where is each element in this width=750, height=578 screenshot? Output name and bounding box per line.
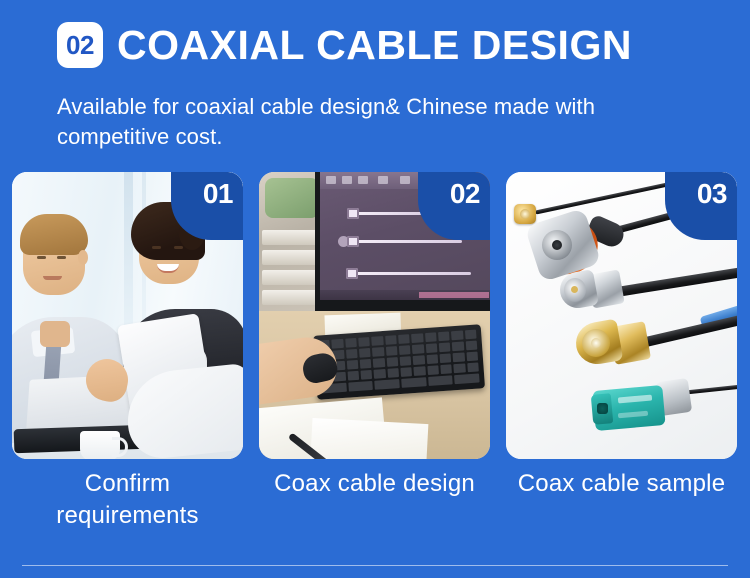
man-hair: [20, 214, 88, 255]
man-eye: [37, 256, 46, 259]
sma-contact-gold: [582, 329, 610, 357]
coax-cable: [682, 381, 737, 395]
man-ear: [78, 250, 88, 265]
woman-eye: [152, 246, 161, 249]
woman-eye: [174, 246, 183, 249]
man-neck: [40, 321, 70, 347]
paper-sheets: [310, 418, 429, 459]
card-coax-cable-sample[interactable]: 03: [506, 172, 737, 459]
paper-stack: [262, 230, 320, 245]
caption-card-1: Confirm requirements: [12, 468, 243, 532]
cad-tool-icon: [342, 176, 352, 184]
man-mouth: [43, 276, 62, 280]
title-row: 02 COAXIAL CABLE DESIGN: [57, 22, 632, 68]
caption-card-3: Coax cable sample: [506, 468, 737, 532]
window-blind: [124, 172, 133, 338]
coax-cable: [618, 265, 737, 296]
coffee-cup: [80, 431, 120, 459]
card-gallery: 01: [12, 172, 738, 459]
caption-row: Confirm requirements Coax cable design C…: [12, 468, 738, 532]
bottom-divider: [22, 565, 728, 566]
paper-stack: [262, 290, 320, 305]
cad-tool-icon: [358, 176, 368, 184]
coax-cable: [535, 181, 673, 214]
caption-card-2: Coax cable design: [259, 468, 490, 532]
cad-antenna-drawing: [353, 272, 471, 275]
ipex-ufl-connector: [514, 204, 536, 224]
fakra-contact-hole: [597, 403, 608, 414]
card-coax-cable-design[interactable]: 02: [259, 172, 490, 459]
section-subtitle: Available for coaxial cable design& Chin…: [57, 92, 677, 151]
page-title: COAXIAL CABLE DESIGN: [117, 25, 632, 66]
cad-tool-icon: [326, 176, 336, 184]
bulkhead-contact: [542, 230, 572, 260]
cad-highlight-bar: [419, 292, 489, 298]
cad-tool-icon: [400, 176, 410, 184]
paper-stack: [262, 250, 320, 265]
desk-plant: [265, 178, 319, 218]
cad-tool-icon: [378, 176, 388, 184]
paper-stack: [262, 270, 320, 285]
keyboard: [313, 324, 485, 400]
cad-antenna-drawing: [354, 240, 462, 243]
card-confirm-requirements[interactable]: 01: [12, 172, 243, 459]
man-eye: [57, 256, 66, 259]
section-number-badge: 02: [57, 22, 103, 68]
section-header: 02 COAXIAL CABLE DESIGN Available for co…: [0, 0, 750, 160]
sma-center-pin: [571, 286, 578, 293]
